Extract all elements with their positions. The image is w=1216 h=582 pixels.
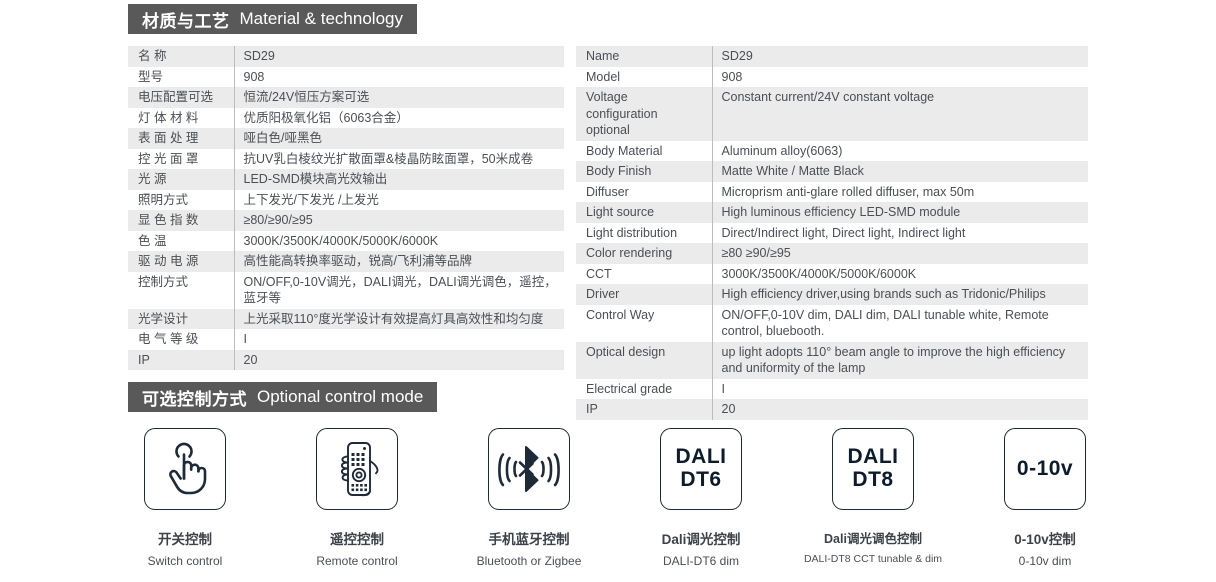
- spec-key: Model: [576, 67, 712, 88]
- spec-value: 抗UV乳白棱纹光扩散面罩&棱晶防眩面罩，50米成卷: [234, 149, 564, 170]
- table-row: DriverHigh efficiency driver,using brand…: [576, 284, 1088, 305]
- spec-key: 电 气 等 级: [128, 329, 234, 350]
- section-header-control-mode: 可选控制方式 Optional control mode: [128, 382, 437, 412]
- spec-key: Driver: [576, 284, 712, 305]
- table-row: 色 温3000K/3500K/4000K/5000K/6000K: [128, 231, 564, 252]
- spec-key: 控制方式: [128, 272, 234, 309]
- table-row: IP20: [128, 350, 564, 371]
- table-row: CCT3000K/3500K/4000K/5000K/6000K: [576, 264, 1088, 285]
- spec-value: 20: [234, 350, 564, 371]
- table-row: Electrical gradeI: [576, 379, 1088, 400]
- spec-value: I: [234, 329, 564, 350]
- table-row: Control WayON/OFF,0-10V dim, DALI dim, D…: [576, 305, 1088, 342]
- spec-key: 灯 体 材 料: [128, 108, 234, 129]
- table-row: Light sourceHigh luminous efficiency LED…: [576, 202, 1088, 223]
- spec-table-chinese-body: 名 称SD29型号908电压配置可选恒流/24V恒压方案可选灯 体 材 料优质阳…: [128, 46, 564, 370]
- spec-value: I: [712, 379, 1088, 400]
- spec-key: 表 面 处 理: [128, 128, 234, 149]
- spec-key: Light source: [576, 202, 712, 223]
- spec-value: ≥80/≥90/≥95: [234, 210, 564, 231]
- spec-value: 3000K/3500K/4000K/5000K/6000K: [712, 264, 1088, 285]
- spec-value: 20: [712, 399, 1088, 420]
- spec-value: High luminous efficiency LED-SMD module: [712, 202, 1088, 223]
- spec-key: Color rendering: [576, 243, 712, 264]
- table-row: 显 色 指 数≥80/≥90/≥95: [128, 210, 564, 231]
- spec-value: 恒流/24V恒压方案可选: [234, 87, 564, 108]
- table-row: 驱 动 电 源高性能高转换率驱动，锐高/飞利浦等品牌: [128, 251, 564, 272]
- spec-key: IP: [128, 350, 234, 371]
- spec-key: Optical design: [576, 342, 712, 379]
- spec-value: Microprism anti-glare rolled diffuser, m…: [712, 182, 1088, 203]
- table-row: Body FinishMatte White / Matte Black: [576, 161, 1088, 182]
- control-mode-item[interactable]: 手机蓝牙控制Bluetooth or Zigbee: [454, 428, 604, 568]
- spec-value: LED-SMD模块高光效输出: [234, 169, 564, 190]
- section-header-control-mode-cn: 可选控制方式: [142, 385, 247, 410]
- spec-key: 驱 动 电 源: [128, 251, 234, 272]
- touch-hand-icon[interactable]: [144, 428, 226, 510]
- table-row: NameSD29: [576, 46, 1088, 67]
- spec-value: 上下发光/下发光 /上发光: [234, 190, 564, 211]
- spec-value: High efficiency driver,using brands such…: [712, 284, 1088, 305]
- spec-value: ≥80 ≥90/≥95: [712, 243, 1088, 264]
- spec-value: 908: [712, 67, 1088, 88]
- control-mode-item[interactable]: DALIDT8Dali调光调色控制DALI-DT8 CCT tunable & …: [798, 428, 948, 568]
- dali-dt6-text-icon[interactable]: DALIDT6: [660, 428, 742, 510]
- zero-to-ten-volt-text-icon[interactable]: 0-10v: [1004, 428, 1086, 510]
- control-mode-item[interactable]: 遥控控制Remote control: [282, 428, 432, 568]
- spec-key: 型号: [128, 67, 234, 88]
- control-mode-label-en: DALI-DT8 CCT tunable & dim: [804, 553, 942, 565]
- control-mode-label-en: 0-10v dim: [1019, 554, 1072, 568]
- control-mode-label-cn: Dali调光控制: [662, 528, 741, 548]
- table-row: 灯 体 材 料优质阳极氧化铝（6063合金）: [128, 108, 564, 129]
- spec-key: 显 色 指 数: [128, 210, 234, 231]
- table-row: 型号908: [128, 67, 564, 88]
- spec-value: Constant current/24V constant voltage: [712, 87, 1088, 141]
- spec-value: 3000K/3500K/4000K/5000K/6000K: [234, 231, 564, 252]
- spec-value: ON/OFF,0-10V dim, DALI dim, DALI tunable…: [712, 305, 1088, 342]
- bluetooth-signal-icon[interactable]: [488, 428, 570, 510]
- table-row: 电 气 等 级I: [128, 329, 564, 350]
- spec-key: Control Way: [576, 305, 712, 342]
- section-header-material: 材质与工艺 Material & technology: [128, 4, 417, 34]
- table-row: Model908: [576, 67, 1088, 88]
- table-row: Color rendering≥80 ≥90/≥95: [576, 243, 1088, 264]
- control-mode-item[interactable]: 开关控制Switch control: [110, 428, 260, 568]
- control-mode-item[interactable]: DALIDT6Dali调光控制DALI-DT6 dim: [626, 428, 776, 568]
- spec-value: Direct/Indirect light, Direct light, Ind…: [712, 223, 1088, 244]
- table-row: 电压配置可选恒流/24V恒压方案可选: [128, 87, 564, 108]
- spec-key: 照明方式: [128, 190, 234, 211]
- spec-key: Name: [576, 46, 712, 67]
- table-row: 控制方式 ON/OFF,0-10V调光，DALI调光，DALI调光调色，遥控，蓝…: [128, 272, 564, 309]
- section-header-material-en: Material & technology: [240, 9, 403, 29]
- table-row: Voltage configuration optionalConstant c…: [576, 87, 1088, 141]
- control-mode-label-cn: 0-10v控制: [1014, 528, 1076, 548]
- control-mode-list: 开关控制Switch control 遥控控制Remote control: [110, 428, 1120, 568]
- table-row: 表 面 处 理哑白色/哑黑色: [128, 128, 564, 149]
- spec-value: ON/OFF,0-10V调光，DALI调光，DALI调光调色，遥控，蓝牙等: [234, 272, 564, 309]
- control-mode-label-en: Switch control: [148, 554, 223, 568]
- icon-label: 0-10v: [1017, 458, 1073, 481]
- table-row: 名 称SD29: [128, 46, 564, 67]
- spec-key: Light distribution: [576, 223, 712, 244]
- control-mode-label-cn: Dali调光调色控制: [824, 528, 922, 547]
- spec-value: 上光采取110°度光学设计有效提高灯具高效性和均匀度: [234, 309, 564, 330]
- dali-dt8-text-icon[interactable]: DALIDT8: [832, 428, 914, 510]
- spec-sheet-page: 材质与工艺 Material & technology 名 称SD29型号908…: [0, 0, 1216, 582]
- spec-key: 电压配置可选: [128, 87, 234, 108]
- spec-value: Aluminum alloy(6063): [712, 141, 1088, 162]
- table-row: Light distributionDirect/Indirect light,…: [576, 223, 1088, 244]
- spec-table-chinese: 名 称SD29型号908电压配置可选恒流/24V恒压方案可选灯 体 材 料优质阳…: [128, 46, 564, 370]
- spec-key: 名 称: [128, 46, 234, 67]
- spec-table-english: NameSD29Model908Voltage configuration op…: [576, 46, 1088, 420]
- spec-value: SD29: [712, 46, 1088, 67]
- icon-label: DALIDT6: [676, 446, 727, 491]
- spec-key: CCT: [576, 264, 712, 285]
- spec-key: Diffuser: [576, 182, 712, 203]
- section-header-control-mode-en: Optional control mode: [257, 387, 423, 407]
- spec-value: 优质阳极氧化铝（6063合金）: [234, 108, 564, 129]
- spec-value: 哑白色/哑黑色: [234, 128, 564, 149]
- table-row: 照明方式上下发光/下发光 /上发光: [128, 190, 564, 211]
- spec-key: IP: [576, 399, 712, 420]
- control-mode-label-cn: 手机蓝牙控制: [489, 528, 570, 548]
- spec-value: Matte White / Matte Black: [712, 161, 1088, 182]
- table-row: Body MaterialAluminum alloy(6063): [576, 141, 1088, 162]
- control-mode-label-en: DALI-DT6 dim: [663, 554, 739, 568]
- table-row: 控 光 面 罩抗UV乳白棱纹光扩散面罩&棱晶防眩面罩，50米成卷: [128, 149, 564, 170]
- control-mode-label-en: Bluetooth or Zigbee: [477, 554, 582, 568]
- table-row: 光 源LED-SMD模块高光效输出: [128, 169, 564, 190]
- spec-key: 光 源: [128, 169, 234, 190]
- control-mode-label-cn: 开关控制: [158, 528, 212, 548]
- spec-key: 控 光 面 罩: [128, 149, 234, 170]
- spec-key: Body Finish: [576, 161, 712, 182]
- spec-value: 908: [234, 67, 564, 88]
- table-row: IP20: [576, 399, 1088, 420]
- spec-key: 光学设计: [128, 309, 234, 330]
- table-row: 光学设计上光采取110°度光学设计有效提高灯具高效性和均匀度: [128, 309, 564, 330]
- control-mode-label-en: Remote control: [316, 554, 397, 568]
- control-mode-item[interactable]: 0-10v0-10v控制0-10v dim: [970, 428, 1120, 568]
- spec-value: 高性能高转换率驱动，锐高/飞利浦等品牌: [234, 251, 564, 272]
- control-mode-label-cn: 遥控控制: [330, 528, 384, 548]
- icon-label: DALIDT8: [848, 446, 899, 491]
- spec-key: Voltage configuration optional: [576, 87, 712, 141]
- section-header-material-cn: 材质与工艺: [142, 7, 230, 32]
- spec-value: SD29: [234, 46, 564, 67]
- spec-key: 色 温: [128, 231, 234, 252]
- spec-key: Body Material: [576, 141, 712, 162]
- hand-remote-icon[interactable]: [316, 428, 398, 510]
- spec-key: Electrical grade: [576, 379, 712, 400]
- table-row: DiffuserMicroprism anti-glare rolled dif…: [576, 182, 1088, 203]
- spec-table-english-body: NameSD29Model908Voltage configuration op…: [576, 46, 1088, 420]
- spec-value: up light adopts 110° beam angle to impro…: [712, 342, 1088, 379]
- table-row: Optical designup light adopts 110° beam …: [576, 342, 1088, 379]
